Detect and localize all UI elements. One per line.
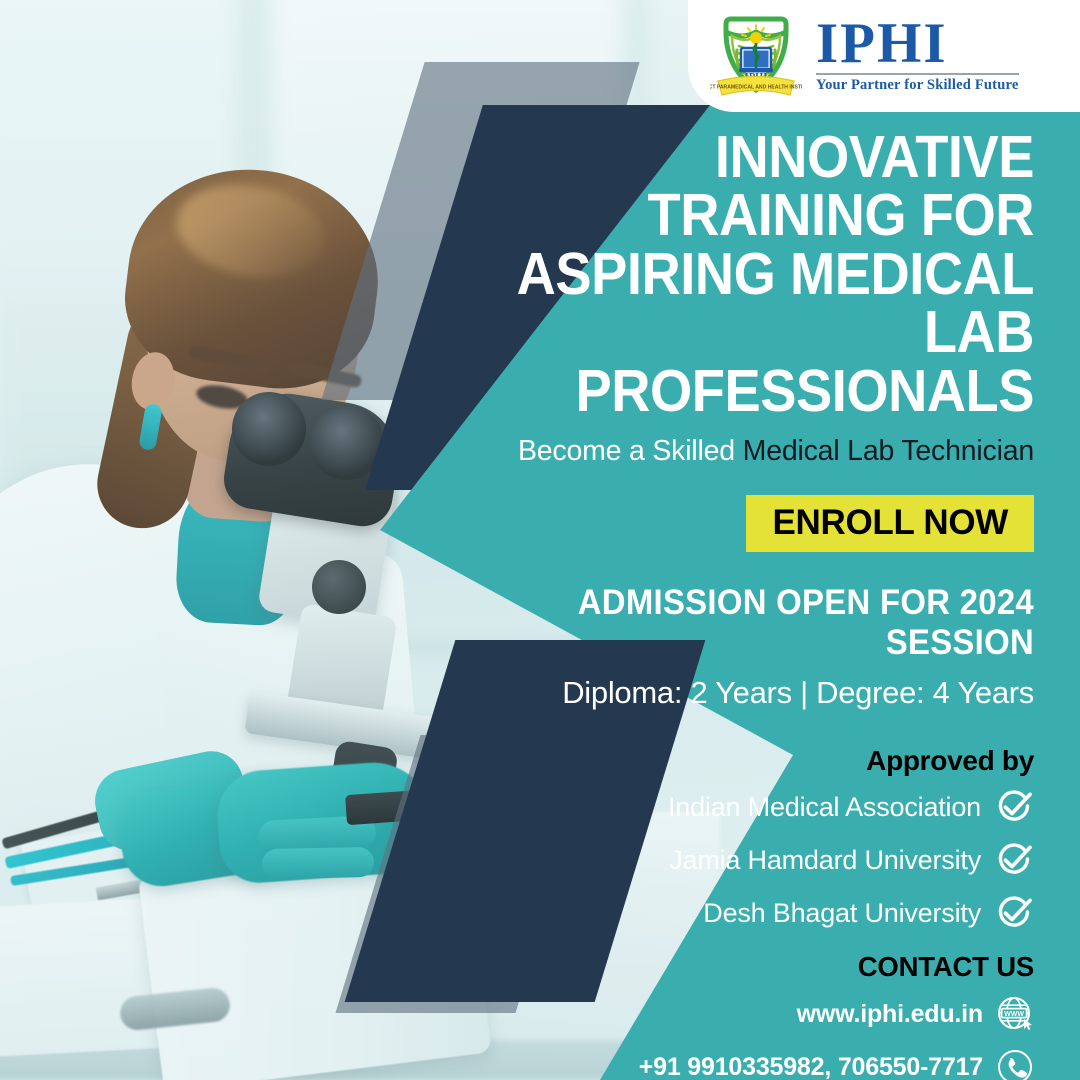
subtitle: Become a Skilled Medical Lab Technician — [448, 436, 1034, 467]
wordmark-tagline: Your Partner for Skilled Future — [816, 77, 1019, 94]
approval-item: Indian Medical Association — [448, 787, 1034, 827]
iphi-wordmark: IPHI Your Partner for Skilled Future — [816, 18, 1019, 94]
subtitle-dark-text: Medical Lab Technician — [743, 435, 1034, 467]
approval-label: Indian Medical Association — [668, 792, 981, 823]
iphi-shield-badge: IPHI IMPACT PARAMEDICAL AND HEALTH INSTI… — [710, 10, 802, 102]
cta-wrapper: ENROLL NOW — [448, 495, 1034, 552]
approval-label: Desh Bhagat University — [703, 898, 981, 929]
check-circle-icon — [994, 840, 1034, 880]
enroll-now-button[interactable]: ENROLL NOW — [746, 495, 1034, 552]
wordmark-text: IPHI — [816, 18, 1019, 70]
contact-website-label: www.iphi.edu.in — [797, 1000, 983, 1029]
headline-line-3: ASPIRING MEDICAL — [495, 245, 1034, 303]
badge-ribbon-text: IMPACT PARAMEDICAL AND HEALTH INSTITUTE — [710, 85, 802, 91]
content-column: INNOVATIVE TRAINING FOR ASPIRING MEDICAL… — [448, 128, 1034, 1080]
logo-bar: IPHI IMPACT PARAMEDICAL AND HEALTH INSTI… — [688, 0, 1080, 112]
headline-line-2: TRAINING FOR — [495, 186, 1034, 244]
contact-phone-label: +91 9910335982, 706550-7717 — [639, 1053, 983, 1080]
approved-by-list: Indian Medical Association Jamia Hamdard… — [448, 787, 1034, 933]
approval-item: Jamia Hamdard University — [448, 840, 1034, 880]
contact-phone-row[interactable]: +91 9910335982, 706550-7717 — [448, 1048, 1034, 1080]
check-circle-icon — [994, 787, 1034, 827]
approval-label: Jamia Hamdard University — [669, 845, 981, 876]
check-circle-icon — [994, 893, 1034, 933]
contact-list: www.iphi.edu.in WWW +91 9910335982, 7065… — [448, 995, 1034, 1080]
contact-website-row[interactable]: www.iphi.edu.in WWW — [448, 995, 1034, 1033]
svg-text:WWW: WWW — [1004, 1011, 1024, 1018]
wordmark-divider — [816, 73, 1019, 75]
headline: INNOVATIVE TRAINING FOR ASPIRING MEDICAL… — [495, 128, 1034, 420]
phone-icon — [996, 1048, 1034, 1080]
headline-line-4: LAB PROFESSIONALS — [495, 303, 1034, 420]
globe-www-icon: WWW — [996, 995, 1034, 1033]
subtitle-light-text: Become a Skilled — [518, 435, 735, 467]
contact-us-title: CONTACT US — [448, 951, 1034, 983]
promotional-poster: IPHI IMPACT PARAMEDICAL AND HEALTH INSTI… — [0, 0, 1080, 1080]
headline-line-1: INNOVATIVE — [495, 128, 1034, 186]
approval-item: Desh Bhagat University — [448, 893, 1034, 933]
course-duration: Diploma: 2 Years | Degree: 4 Years — [448, 675, 1034, 711]
approved-by-title: Approved by — [448, 745, 1034, 777]
admission-headline: ADMISSION OPEN FOR 2024 SESSION — [483, 583, 1034, 663]
